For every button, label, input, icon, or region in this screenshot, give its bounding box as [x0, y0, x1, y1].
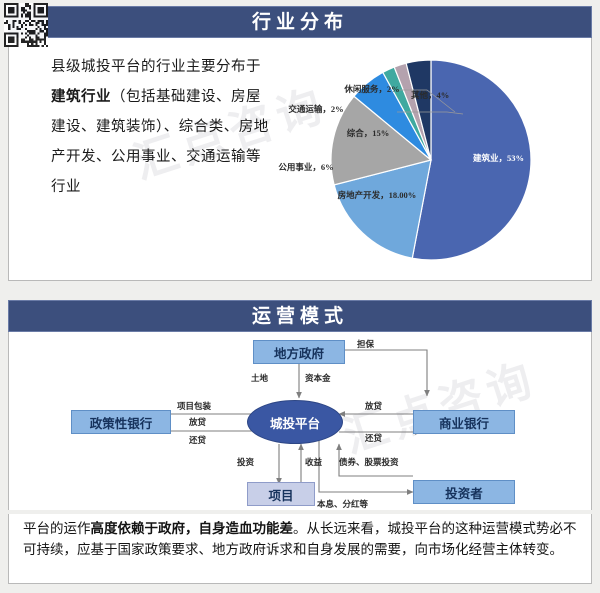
pie-label-comprehensive: 综合，15% — [329, 128, 407, 139]
operation-summary-note: 平台的运作高度依赖于政府，自身造血功能差。从长远来看，城投平台的这种运营模式势必… — [8, 514, 592, 584]
edge-label-bond-stock-invest: 债券、股票投资 — [339, 456, 399, 468]
pie-label-construction: 建筑业，53% — [473, 153, 524, 164]
panel-industry-title: 行业分布 — [8, 6, 592, 38]
edge-label-repay-commercial: 还贷 — [365, 432, 382, 444]
node-commercial-bank[interactable]: 商业银行 — [413, 410, 515, 434]
node-project[interactable]: 项目 — [247, 482, 315, 506]
node-investors[interactable]: 投资者 — [413, 480, 515, 504]
edge-label-return: 收益 — [305, 456, 322, 468]
industry-pie-chart: 建筑业，53% 房地产开发，18.00% 综合，15% 公用事业，6% 交通运输… — [277, 40, 589, 280]
industry-description: 县级城投平台的行业主要分布于建筑行业（包括基础建设、房屋建设、建筑装饰）、综合类… — [51, 52, 271, 202]
qr-code-icon — [4, 3, 48, 47]
node-local-government[interactable]: 地方政府 — [253, 340, 345, 364]
node-project-label: 项目 — [268, 485, 293, 504]
pie-label-other: 其他，4% — [411, 90, 449, 101]
edge-label-lend-policy: 放贷 — [189, 416, 206, 428]
edge-label-project-packaging: 项目包装 — [177, 400, 211, 412]
industry-description-strong: 建筑行业 — [51, 89, 111, 105]
edge-label-land: 土地 — [251, 372, 268, 384]
operation-flow-diagram: 地方政府 政策性银行 商业银行 投资者 城投平台 项目 — [9, 332, 591, 540]
node-investors-label: 投资者 — [445, 483, 483, 502]
panel-operation: 运营模式 汇点咨询 — [8, 300, 592, 542]
operation-summary-strong: 高度依赖于政府，自身造血功能差 — [91, 521, 294, 536]
edge-label-invest: 投资 — [237, 456, 254, 468]
node-policy-bank[interactable]: 政策性银行 — [71, 410, 171, 434]
pie-label-leisure: 休闲服务，2% — [341, 84, 403, 95]
panel-operation-title: 运营模式 — [8, 300, 592, 332]
edge-label-lend-commercial: 放贷 — [365, 400, 382, 412]
node-policy-bank-label: 政策性银行 — [90, 413, 153, 432]
node-commercial-bank-label: 商业银行 — [439, 413, 489, 432]
edge-label-repay-policy: 还贷 — [189, 434, 206, 446]
screenshot-root: 行业分布 汇点咨询 县级城投平台的行业主要分布于建筑行业（包括基础建设、房屋建设… — [0, 0, 600, 593]
pie-label-real-estate: 房地产开发，18.00% — [332, 190, 422, 201]
pie-label-transport: 交通运输，2% — [285, 104, 347, 115]
operation-summary-pre: 平台的运作 — [23, 521, 91, 536]
panel-industry: 行业分布 汇点咨询 县级城投平台的行业主要分布于建筑行业（包括基础建设、房屋建设… — [8, 6, 592, 281]
edge-label-principal-interest-dividend: 本息、分红等 — [317, 498, 368, 510]
edge-label-guarantee: 担保 — [357, 338, 374, 350]
node-platform-label: 城投平台 — [270, 413, 320, 432]
pie-svg — [277, 40, 589, 280]
pie-label-utilities: 公用事业，6% — [275, 162, 337, 173]
node-local-government-label: 地方政府 — [274, 343, 324, 362]
industry-description-pre: 县级城投平台的行业主要分布于 — [51, 59, 261, 75]
edge-label-capital: 资本金 — [305, 372, 331, 384]
node-platform[interactable]: 城投平台 — [247, 400, 343, 444]
panel-industry-body: 汇点咨询 县级城投平台的行业主要分布于建筑行业（包括基础建设、房屋建设、建筑装饰… — [8, 38, 592, 281]
